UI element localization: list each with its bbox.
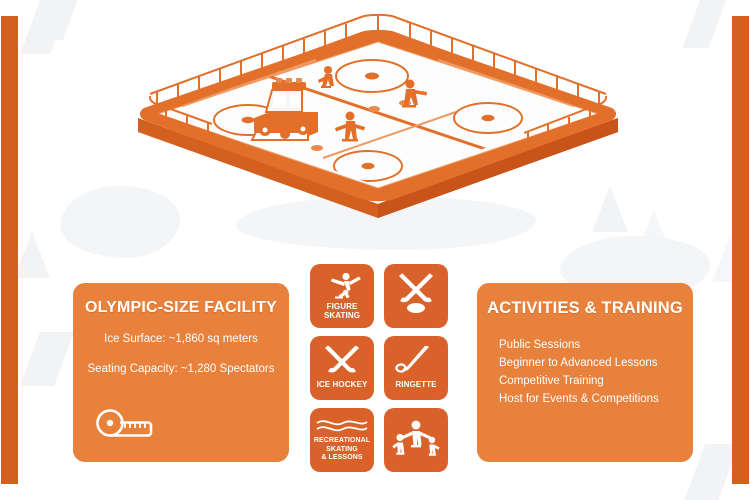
stat-ice-surface: Ice Surface: ~1,860 sq meters (83, 333, 279, 345)
tile-recreational-skating[interactable]: RECREATIONALSKATING& LESSONS (310, 408, 374, 472)
wavy-lines-icon (316, 417, 368, 435)
tile-label-ringette: RINGETTE (395, 380, 436, 390)
measuring-tape-icon (95, 409, 157, 444)
ice-rink-illustration (120, 8, 640, 233)
tile-label-recreational-skating: RECREATIONALSKATING& LESSONS (314, 437, 370, 463)
ringette-stick-ring-icon (395, 346, 437, 378)
activity-item: Competitive Training (499, 372, 693, 390)
tile-ringette[interactable]: RINGETTE (384, 336, 448, 400)
olympic-facility-panel: OLYMPIC-SIZE FACILITY Ice Surface: ~1,86… (73, 283, 289, 462)
left-panel-title: OLYMPIC-SIZE FACILITY (73, 283, 289, 317)
tile-label-ice-hockey: ICE HOCKEY (317, 380, 368, 390)
family-skating-icon (392, 419, 440, 459)
activities-training-panel: ACTIVITIES & TRAINING Public Sessions Be… (477, 283, 693, 462)
figure-skater-icon (322, 272, 362, 300)
tile-hockey-sticks[interactable] (384, 264, 448, 328)
crossed-hockey-sticks-icon (319, 346, 365, 378)
crossed-hockey-sticks-puck-icon (392, 273, 440, 317)
activity-item: Host for Events & Competitions (499, 390, 693, 408)
facility-stats: Ice Surface: ~1,860 sq meters Seating Ca… (73, 317, 289, 375)
activity-item: Public Sessions (499, 336, 693, 354)
tile-family-skating[interactable] (384, 408, 448, 472)
tile-ice-hockey[interactable]: ICE HOCKEY (310, 336, 374, 400)
right-panel-title: ACTIVITIES & TRAINING (477, 283, 693, 318)
activities-list: Public Sessions Beginner to Advanced Les… (477, 318, 693, 408)
tile-label-figure-skating: FIGURESKATING (324, 302, 360, 321)
tile-figure-skating[interactable]: FIGURESKATING (310, 264, 374, 328)
activity-icon-grid: FIGURESKATING ICE HOCKEY (310, 264, 448, 472)
right-accent-bar (732, 16, 749, 484)
stat-seating-capacity: Seating Capacity: ~1,280 Spectators (83, 363, 279, 375)
left-accent-bar (1, 16, 18, 484)
activity-item: Beginner to Advanced Lessons (499, 354, 693, 372)
